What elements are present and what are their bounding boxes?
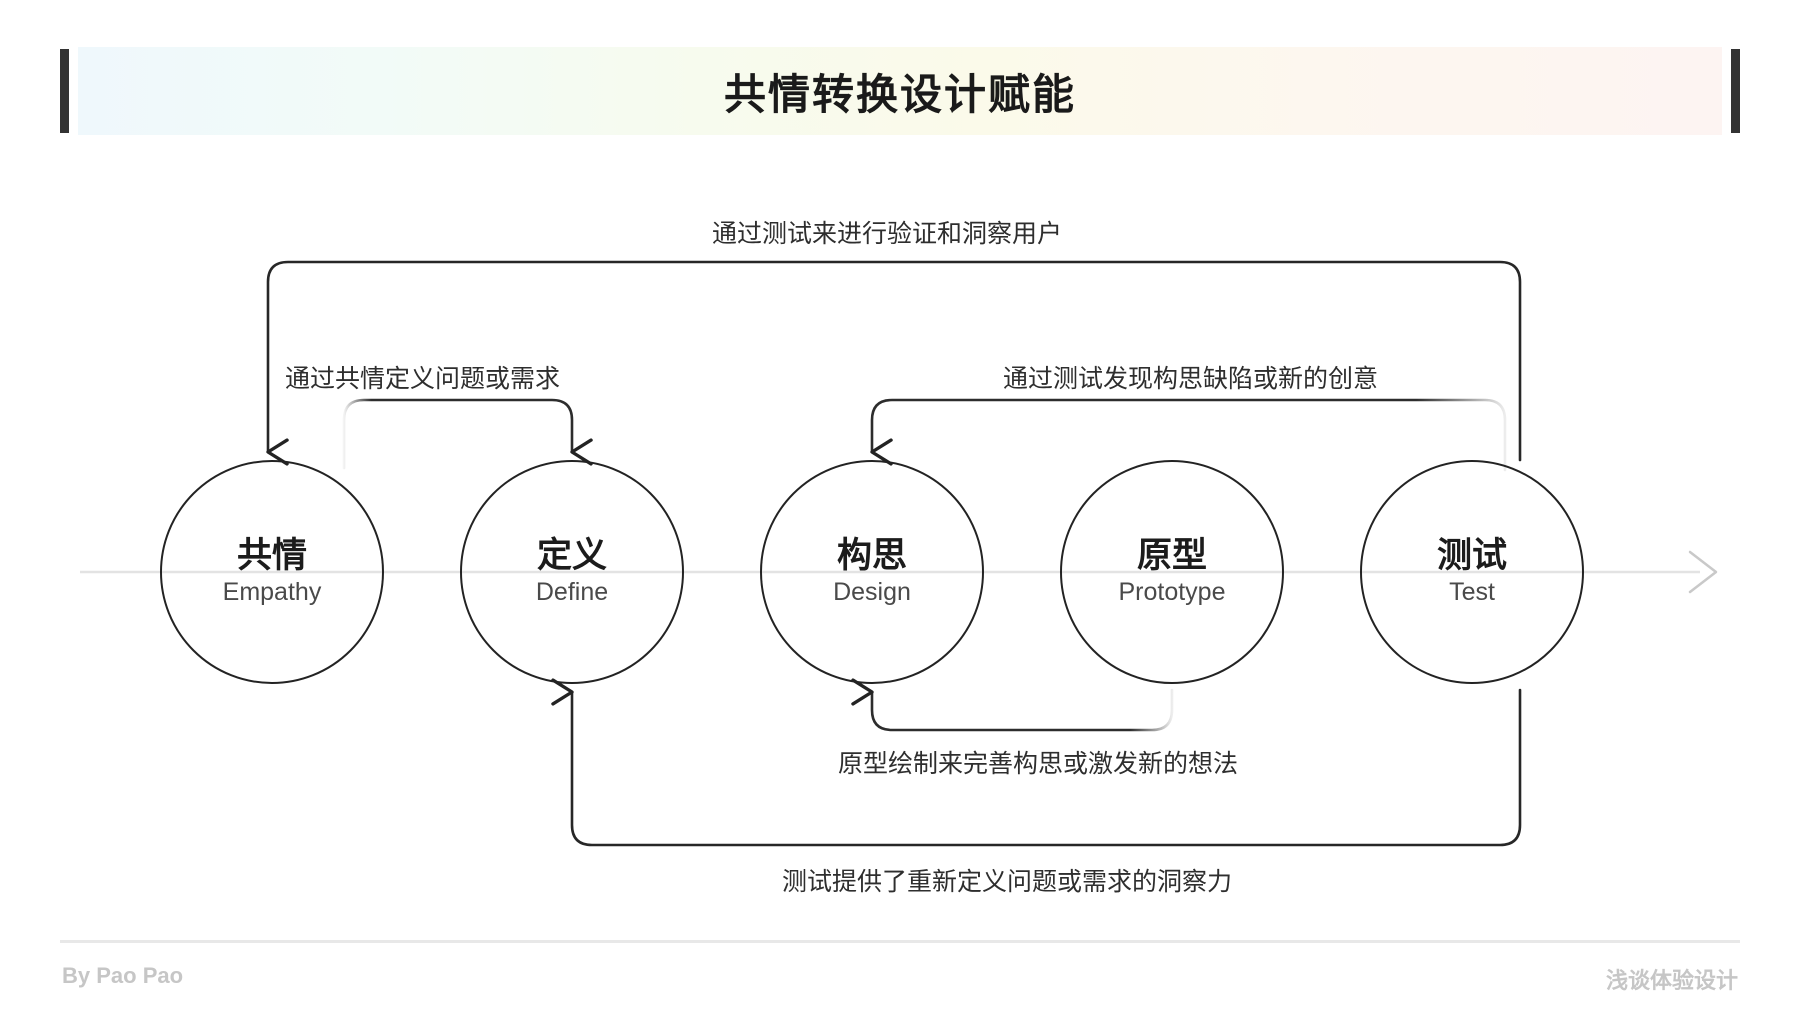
stage-node-label-en: Define (536, 579, 608, 607)
stage-node-label-cn: 构思 (837, 538, 907, 575)
connector-empathy-to-define (344, 400, 572, 468)
stage-node-label-en: Empathy (223, 579, 322, 607)
connector-test-to-empathy (268, 262, 1520, 460)
footer-divider (60, 940, 1740, 943)
stage-node-label-cn: 原型 (1137, 538, 1207, 575)
stage-node-define[interactable]: 定义 Define (460, 460, 684, 684)
connector-caption-test-to-define: 测试提供了重新定义问题或需求的洞察力 (782, 870, 1232, 895)
stage-node-label-en: Prototype (1118, 579, 1225, 607)
stage-node-prototype[interactable]: 原型 Prototype (1060, 460, 1284, 684)
connector-test-to-design (872, 400, 1505, 470)
stage-node-design[interactable]: 构思 Design (760, 460, 984, 684)
footer-brand: 浅谈体验设计 (1606, 963, 1738, 995)
page-title: 共情转换设计赋能 (724, 61, 1076, 122)
process-diagram: 共情 Empathy 定义 Define 构思 Design 原型 Protot… (0, 0, 1800, 1012)
stage-node-label-en: Test (1449, 579, 1495, 607)
stage-node-label-cn: 共情 (237, 538, 307, 575)
connector-caption-test-to-empathy: 通过测试来进行验证和洞察用户 (712, 222, 1062, 247)
footer-author: By Pao Pao (62, 963, 183, 989)
stage-node-label-cn: 测试 (1437, 538, 1507, 575)
stage-node-label-cn: 定义 (537, 538, 607, 575)
connector-caption-test-to-design: 通过测试发现构思缺陷或新的创意 (1003, 367, 1378, 392)
stage-node-test[interactable]: 测试 Test (1360, 460, 1584, 684)
stage-node-label-en: Design (833, 579, 911, 607)
connector-caption-empathy-to-define: 通过共情定义问题或需求 (285, 367, 560, 392)
stage-node-empathy[interactable]: 共情 Empathy (160, 460, 384, 684)
connector-caption-prototype-to-design: 原型绘制来完善构思或激发新的想法 (838, 752, 1238, 777)
connector-prototype-to-design (872, 690, 1172, 730)
